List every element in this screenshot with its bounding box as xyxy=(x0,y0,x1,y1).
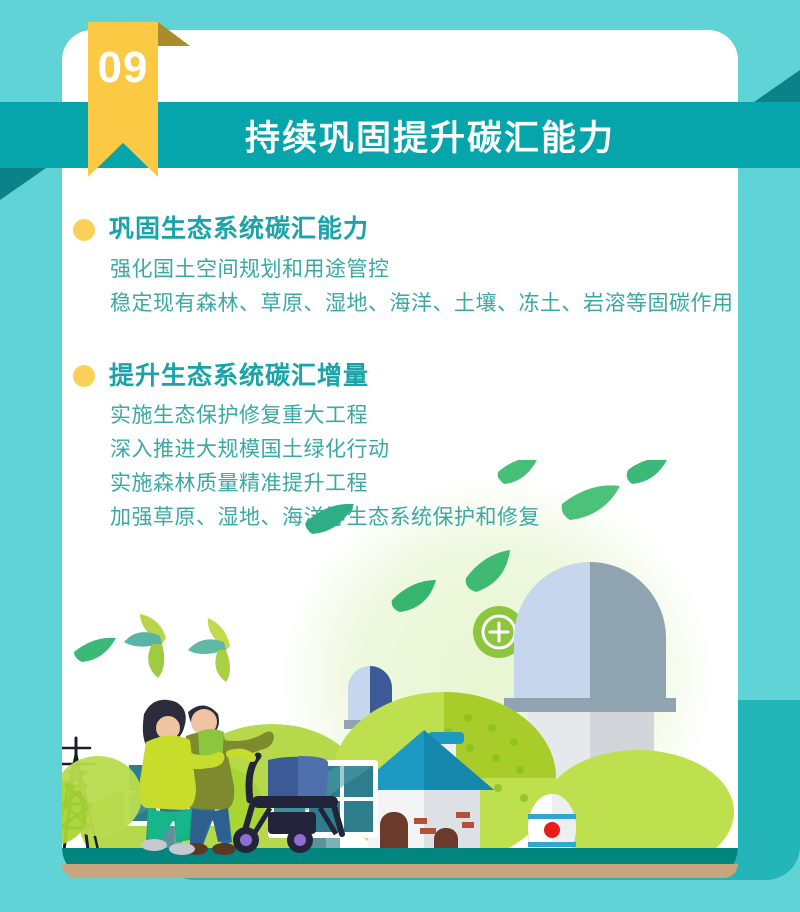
pinwheel-leaves-icon xyxy=(124,460,464,682)
section-2-heading: 提升生态系统碳汇增量 xyxy=(109,363,369,391)
section-1-line-2: 稳定现有森林、草原、湿地、海洋、土壤、冻土、岩溶等固碳作用 xyxy=(110,287,738,321)
bullet-icon xyxy=(73,365,95,387)
section-1: 巩固生态系统碳汇能力 强化国土空间规划和用途管控 稳定现有森林、草原、湿地、海洋… xyxy=(62,216,738,321)
section-1-header: 巩固生态系统碳汇能力 xyxy=(62,216,738,244)
section-2-line-1: 实施生态保护修复重大工程 xyxy=(110,399,738,433)
section-1-heading: 巩固生态系统碳汇能力 xyxy=(109,216,369,244)
section-number: 09 xyxy=(88,38,158,98)
section-1-lines: 强化国土空间规划和用途管控 稳定现有森林、草原、湿地、海洋、土壤、冻土、岩溶等固… xyxy=(62,253,738,321)
bullet-icon xyxy=(73,219,95,241)
soil-strip xyxy=(62,864,738,878)
section-1-line-1: 强化国土空间规划和用途管控 xyxy=(110,253,738,287)
section-2-header: 提升生态系统碳汇增量 xyxy=(62,363,738,391)
illustration xyxy=(62,460,738,878)
poster-stage: 巩固生态系统碳汇能力 强化国土空间规划和用途管控 稳定现有森林、草原、湿地、海洋… xyxy=(0,0,800,912)
